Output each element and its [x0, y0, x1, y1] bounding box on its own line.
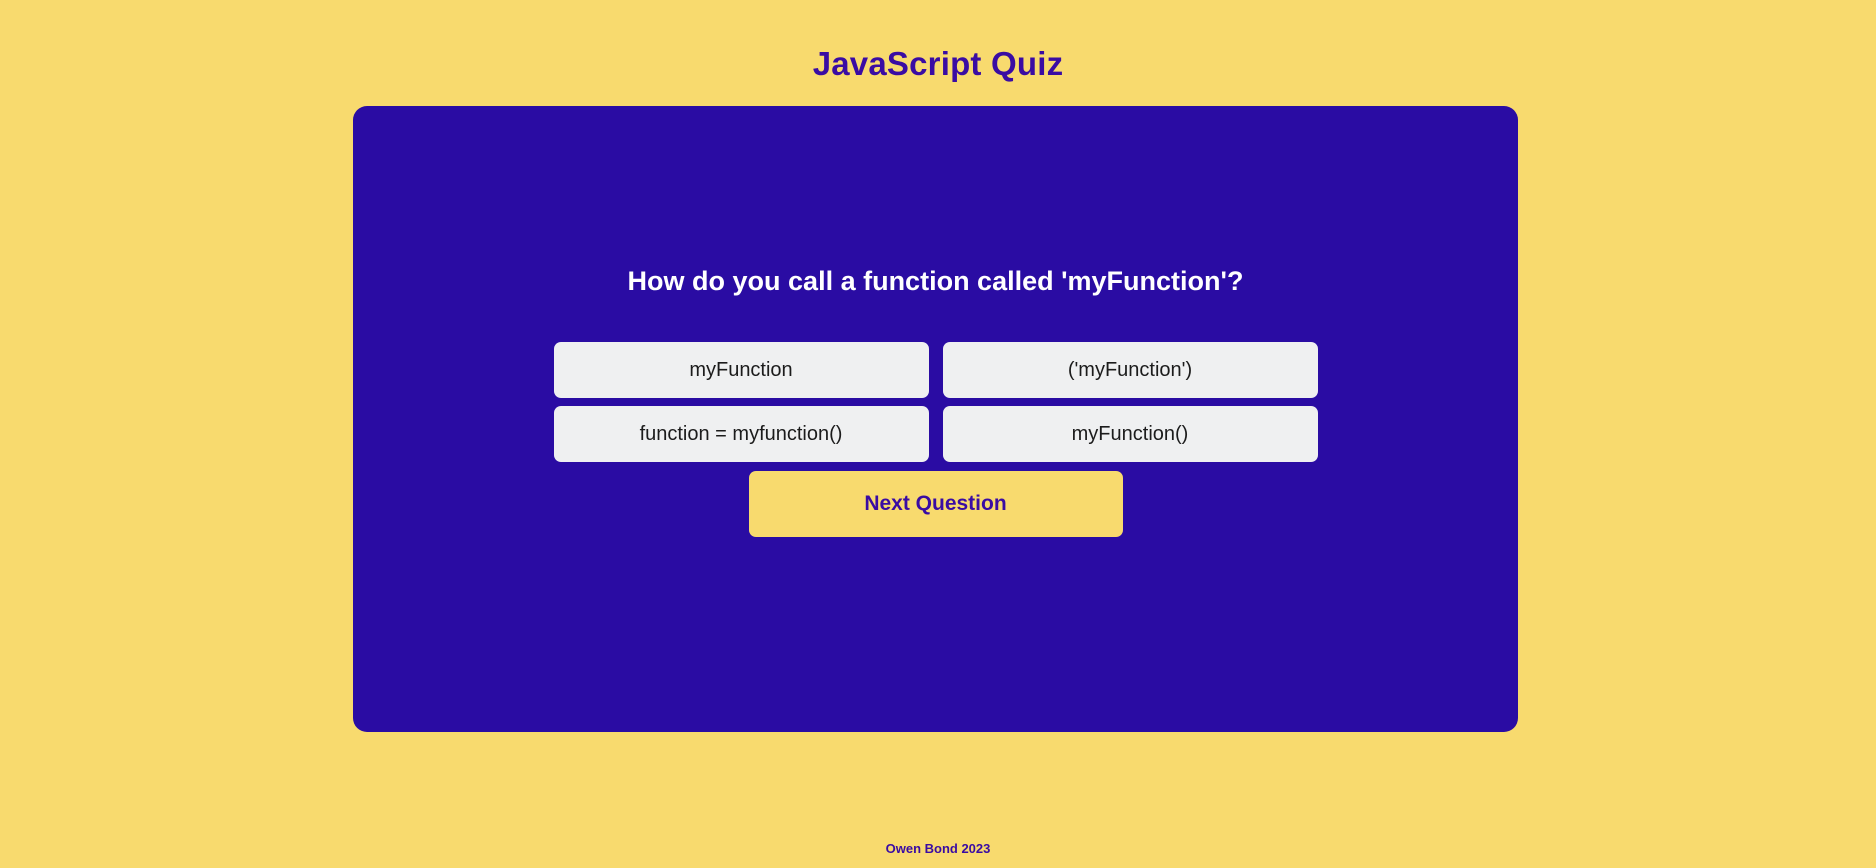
- answers-grid: myFunction ('myFunction') function = myf…: [554, 342, 1318, 462]
- page-title: JavaScript Quiz: [0, 44, 1876, 84]
- answer-button-1[interactable]: myFunction: [554, 342, 929, 398]
- next-question-button[interactable]: Next Question: [749, 471, 1123, 537]
- answer-button-3[interactable]: function = myfunction(): [554, 406, 929, 462]
- answer-button-2[interactable]: ('myFunction'): [943, 342, 1318, 398]
- quiz-content: How do you call a function called 'myFun…: [353, 106, 1518, 537]
- question-text: How do you call a function called 'myFun…: [353, 264, 1518, 298]
- footer-credit: Owen Bond 2023: [0, 840, 1876, 858]
- quiz-card: How do you call a function called 'myFun…: [353, 106, 1518, 732]
- answer-button-4[interactable]: myFunction(): [943, 406, 1318, 462]
